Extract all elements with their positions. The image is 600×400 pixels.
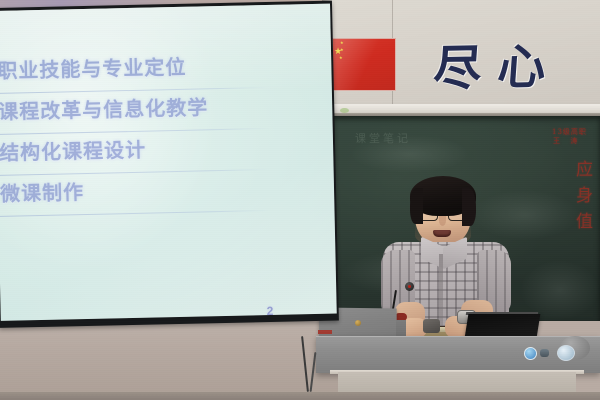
slide-page-number: 2 (267, 304, 274, 318)
flag-highlight (333, 39, 395, 90)
floor (0, 392, 600, 400)
classroom-photo: ★ ★ ★ ★ 尽心 课堂笔记 13级高职 王 涛 应身值 (0, 0, 600, 400)
slide-bullet-row: 课程改革与信息化教学 (0, 89, 297, 137)
podium-label-dark (540, 349, 549, 357)
slide-divider (0, 210, 270, 217)
slide-bullet-row: 微课制作 (0, 171, 299, 219)
slide-bullet-3: 结构化课程设计 (0, 134, 146, 166)
slide-bullet-1: 职业技能与专业定位 (0, 51, 187, 84)
slide-bullet-row: 职业技能与专业定位 (0, 48, 296, 96)
blackboard-faint-text: 课堂笔记 (355, 130, 485, 152)
slide-bullet-row: 结构化课程设计 (0, 130, 298, 178)
wall-below-screen (0, 320, 340, 400)
presenter-hair-left (410, 188, 423, 224)
chinese-flag: ★ ★ ★ ★ (332, 38, 396, 91)
slide-bullet-2: 课程改革与信息化教学 (0, 91, 209, 125)
presenter-mouth (433, 230, 451, 237)
wall-calligraphy: 尽心 (431, 27, 564, 99)
projection-screen-frame: 职业技能与专业定位 课程改革与信息化教学 结构化课程设计 微课制作 2 (0, 1, 339, 328)
podium-sticker-silver (557, 345, 575, 361)
slide-bullet-4: 微课制作 (0, 176, 84, 207)
presentation-clicker[interactable] (423, 319, 440, 333)
projection-screen: 职业技能与专业定位 课程改革与信息化教学 结构化课程设计 微课制作 2 (0, 4, 337, 321)
presenter-nose (439, 215, 446, 226)
podium-red-indicator (318, 330, 332, 334)
laptop-screw (355, 320, 361, 326)
microphone-indicator (408, 285, 411, 288)
podium-sticker-blue (524, 347, 537, 360)
shirt-placket (439, 254, 443, 326)
presenter-hair-right (462, 188, 476, 226)
slide-content: 职业技能与专业定位 课程改革与信息化教学 结构化课程设计 微课制作 (0, 48, 299, 219)
